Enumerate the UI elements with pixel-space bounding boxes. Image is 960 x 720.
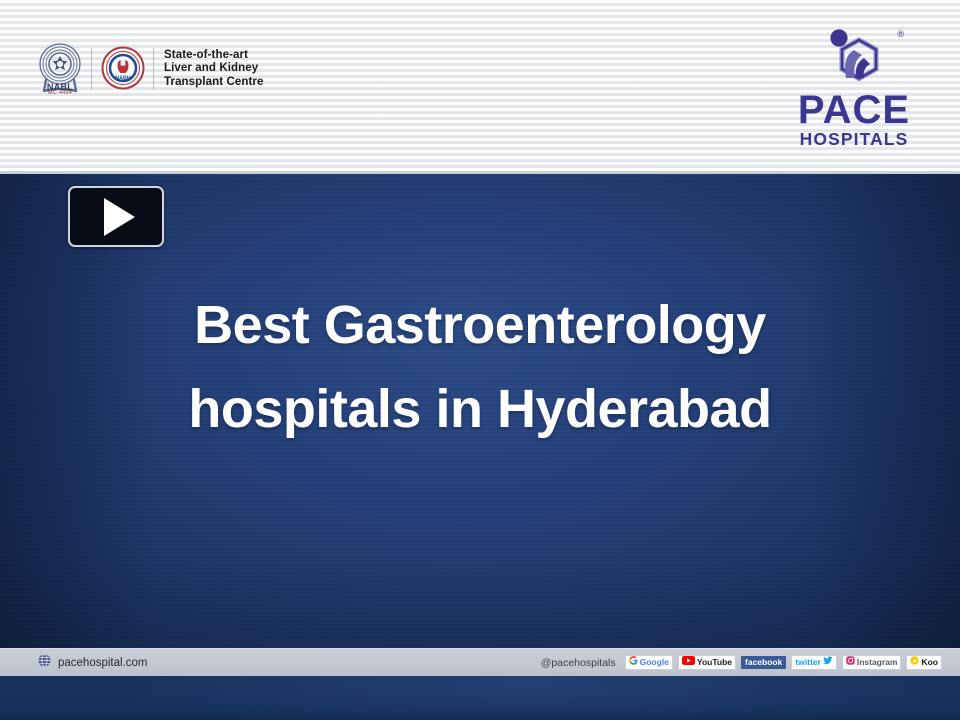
- svg-text:NABH: NABH: [115, 76, 131, 82]
- seal-divider-2: [153, 48, 154, 90]
- twitter-badge-label: twitter: [795, 656, 821, 669]
- google-badge[interactable]: Google: [625, 655, 673, 670]
- twitter-bird-icon: [823, 656, 833, 669]
- slide-title-line-1: Best Gastroenterology: [0, 283, 960, 367]
- footer-website-group[interactable]: pacehospital.com: [38, 654, 148, 672]
- slide-title: Best Gastroenterology hospitals in Hyder…: [0, 283, 960, 451]
- pace-hospitals-logo: ® PACE HOSPITALS: [784, 26, 924, 148]
- youtube-badge[interactable]: YouTube: [678, 655, 736, 670]
- instagram-badge-label: Instagram: [857, 656, 898, 669]
- twitter-badge[interactable]: twitter: [791, 655, 837, 670]
- nabl-seal-icon: NABL MC-4494: [38, 41, 82, 97]
- accreditation-tagline: State-of-the-art Liver and Kidney Transp…: [164, 49, 263, 90]
- play-button[interactable]: [68, 186, 164, 247]
- social-handle: @pacehospitals: [541, 657, 616, 669]
- koo-bird-icon: [910, 656, 919, 669]
- tagline-line-1: State-of-the-art: [164, 49, 263, 63]
- google-icon: [629, 656, 638, 669]
- registered-trademark-symbol: ®: [897, 29, 904, 39]
- slide-header: NABL MC-4494 NABH State-of-the-art: [0, 0, 960, 174]
- pace-brand-subtitle: HOSPITALS: [784, 129, 924, 149]
- youtube-badge-label: YouTube: [697, 656, 732, 669]
- presentation-slide: NABL MC-4494 NABH State-of-the-art: [0, 0, 960, 720]
- slide-bottom-strip: [0, 676, 960, 720]
- footer-website-url[interactable]: pacehospital.com: [58, 657, 148, 669]
- accreditation-cluster: NABL MC-4494 NABH State-of-the-art: [38, 38, 263, 100]
- slide-footer: pacehospital.com @pacehospitals Google: [0, 648, 960, 676]
- facebook-badge-label: facebook: [745, 656, 782, 669]
- nabl-seal-code: MC-4494: [38, 90, 82, 96]
- tagline-line-3: Transplant Centre: [164, 76, 263, 90]
- youtube-icon: [682, 656, 695, 669]
- bottom-strip-sheen: [0, 676, 960, 720]
- koo-badge[interactable]: Koo: [906, 655, 942, 670]
- play-triangle-icon: [104, 198, 135, 236]
- footer-social-group: @pacehospitals Google: [541, 655, 942, 670]
- koo-badge-label: Koo: [921, 656, 938, 669]
- pace-brand-name: PACE: [784, 92, 924, 128]
- instagram-badge[interactable]: Instagram: [842, 655, 902, 670]
- seal-divider-1: [91, 48, 92, 90]
- pace-hexagon-person-icon: ®: [784, 26, 924, 94]
- globe-icon: [38, 654, 51, 672]
- instagram-icon: [846, 656, 855, 669]
- slide-title-line-2: hospitals in Hyderabad: [0, 367, 960, 451]
- facebook-badge[interactable]: facebook: [741, 656, 786, 669]
- tagline-line-2: Liver and Kidney: [164, 62, 263, 76]
- google-badge-label: Google: [640, 656, 669, 669]
- nabh-seal-icon: NABH: [101, 46, 145, 92]
